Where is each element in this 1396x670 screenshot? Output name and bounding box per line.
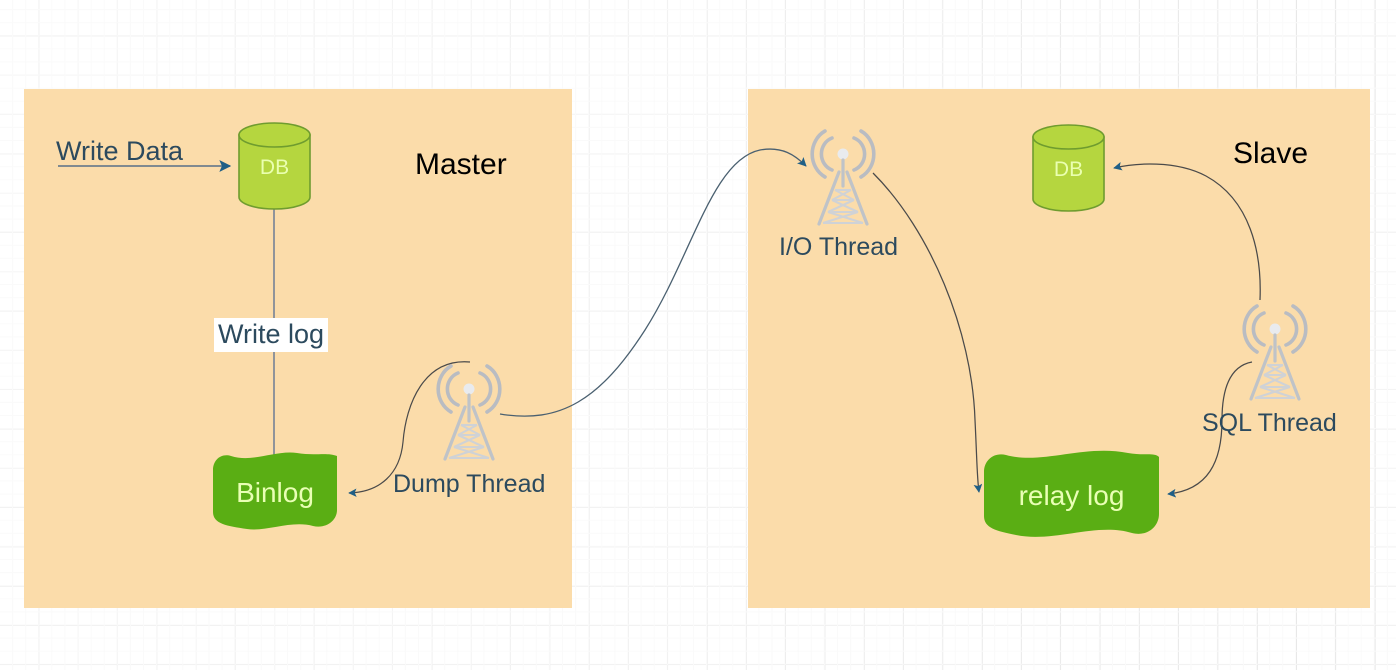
dump-thread-tower[interactable] bbox=[432, 355, 506, 465]
write-data-label: Write Data bbox=[56, 138, 183, 165]
slave-panel-title: Slave bbox=[1233, 139, 1308, 169]
cylinder-shape bbox=[237, 122, 312, 210]
broadcast-tower-icon bbox=[432, 355, 506, 465]
sql-thread-tower[interactable] bbox=[1238, 295, 1312, 405]
diagram-canvas: DB DB Binlog relay log bbox=[0, 0, 1396, 670]
write-log-label: Write log bbox=[214, 318, 328, 352]
dump-thread-label: Dump Thread bbox=[393, 472, 545, 497]
broadcast-tower-icon bbox=[1238, 295, 1312, 405]
cylinder-shape bbox=[1031, 124, 1106, 212]
flag-shape bbox=[209, 450, 341, 532]
slave-db-cylinder[interactable]: DB bbox=[1031, 124, 1106, 212]
flag-shape bbox=[980, 448, 1163, 540]
sql-thread-label: SQL Thread bbox=[1202, 411, 1337, 436]
relay-log-flag[interactable]: relay log bbox=[980, 448, 1163, 540]
master-db-cylinder[interactable]: DB bbox=[237, 122, 312, 210]
master-panel-title: Master bbox=[415, 150, 507, 180]
binlog-flag[interactable]: Binlog bbox=[209, 450, 341, 532]
io-thread-label: I/O Thread bbox=[779, 235, 898, 260]
broadcast-tower-icon bbox=[806, 120, 880, 230]
io-thread-tower[interactable] bbox=[806, 120, 880, 230]
